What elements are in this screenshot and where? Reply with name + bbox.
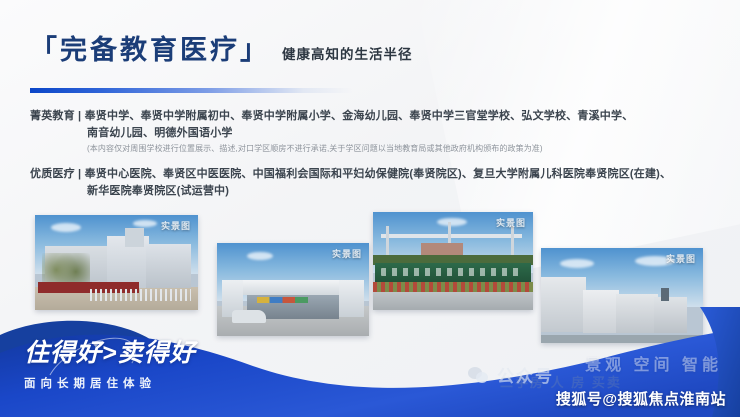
building-block [146,244,192,289]
photo-school-gate[interactable]: 实景图 [217,243,369,336]
cloud-shape [51,223,81,232]
hospital-block [541,277,586,332]
photo-school-sign-wall[interactable]: 实景图 [373,212,533,310]
medical-line-2: 新华医院奉贤院区(试运营中) [30,183,720,200]
wechat-icon [468,366,490,384]
education-disclaimer: (本内容仅对周围学校进行位置展示、描述,对口学区顺房不进行承诺,关于学区问题以当… [30,142,720,156]
cloud-shape [133,220,157,227]
title-underline-rule [30,88,352,93]
hospital-block [654,297,686,333]
building-tower [125,228,145,247]
watermark-ghost-overlay: 景观 空间 智能 [585,351,722,375]
brand-slogan-block: 住得好>卖得好 面向长期居住体验 [24,341,196,391]
ground-plane [373,292,533,310]
ground-plane [541,335,703,343]
color-panel-strip [257,297,309,304]
fence-railing [90,289,191,300]
photo-strip: 实景图 实景图 实景图 [0,200,740,330]
watermark-public-account: 公众号 [468,362,554,387]
public-account-label: 公众号 [497,362,554,387]
parked-car [232,310,265,323]
section-education: 菁英教育 | 奉贤中学、奉贤中学附属初中、奉贤中学附属小学、金海幼儿园、奉贤中学… [30,108,720,156]
section-medical: 优质医疗 | 奉贤中心医院、奉贤区中医医院、中国福利会国际和平妇幼保健院(奉贤院… [30,166,720,200]
archway-beam [381,234,522,238]
rooftop-spire [661,288,669,301]
cloud-shape [437,218,467,226]
photo-hospital-complex[interactable]: 实景图 [541,248,703,343]
education-line-2: 南音幼儿园、明德外国语小学 [30,125,720,142]
page-title: 「完备教育医疗」 健康高知的生活半径 [30,37,413,64]
photo-tag-label: 实景图 [332,247,362,260]
gate-pillar-right [339,280,365,317]
brand-slogan-sub: 面向长期居住体验 [24,375,196,391]
slide-canvas: 「完备教育医疗」 健康高知的生活半径 菁英教育 | 奉贤中学、奉贤中学附属初中、… [0,0,740,417]
title-main-text: 「完备教育医疗」 [30,37,270,64]
photo-tag-label: 实景图 [666,252,696,265]
brand-slogan-main: 住得好>卖得好 [24,341,196,366]
signboard-lettering [381,268,522,276]
watermark-sohu-account: 搜狐号@搜狐焦点淮南站 [556,388,726,409]
hospital-block [616,294,658,334]
education-line-1: 菁英教育 | 奉贤中学、奉贤中学附属初中、奉贤中学附属小学、金海幼儿园、奉贤中学… [30,108,720,125]
flower-bed [373,282,533,293]
hospital-block [583,290,619,334]
photo-tag-label: 实景图 [496,216,526,229]
photo-school-building[interactable]: 实景图 [35,215,198,310]
medical-line-1: 优质医疗 | 奉贤中心医院、奉贤区中医医院、中国福利会国际和平妇幼保健院(奉贤院… [30,166,720,183]
title-subtitle-text: 健康高知的生活半径 [282,43,413,63]
wechat-bubble-small [476,372,488,383]
photo-tag-label: 实景图 [161,219,191,232]
